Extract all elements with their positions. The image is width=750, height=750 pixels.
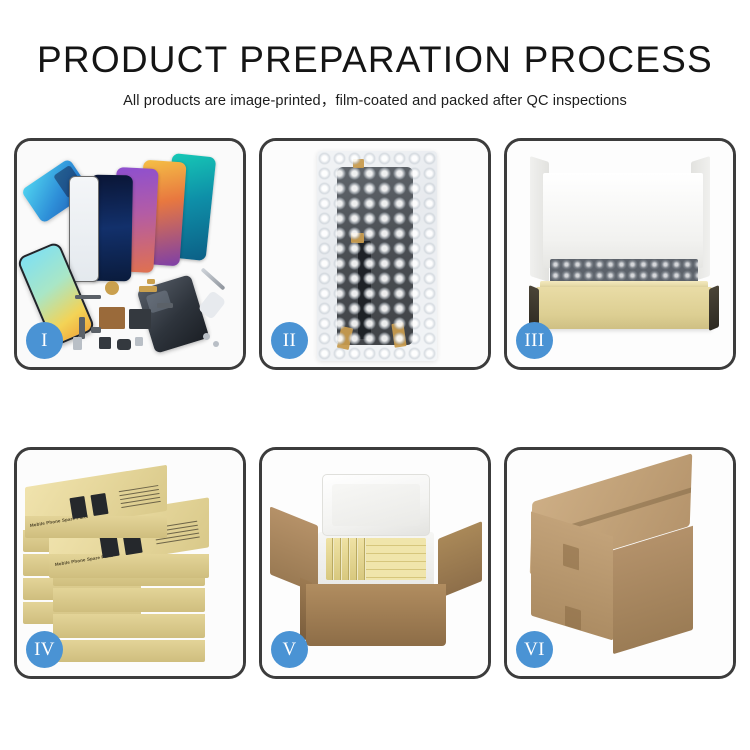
- steps-grid: I II: [14, 138, 736, 679]
- step-panel-6[interactable]: VI: [504, 447, 736, 679]
- part-icon: [117, 339, 131, 350]
- header: PRODUCT PREPARATION PROCESS All products…: [0, 0, 750, 110]
- step-badge-3: III: [516, 322, 553, 359]
- carton-front-icon: [306, 584, 446, 646]
- step-badge-1: I: [26, 322, 63, 359]
- process-infographic: PRODUCT PREPARATION PROCESS All products…: [0, 0, 750, 750]
- part-icon: [213, 341, 219, 347]
- part-icon: [91, 327, 101, 333]
- step-badge-4: IV: [26, 631, 63, 668]
- part-icon: [79, 317, 85, 339]
- carton-flap-left-icon: [270, 506, 318, 593]
- step-badge-5: V: [271, 631, 308, 668]
- part-icon: [147, 279, 155, 284]
- screwdriver-icon: [201, 267, 226, 290]
- part-icon: [135, 337, 143, 346]
- step-panel-1[interactable]: I: [14, 138, 246, 370]
- packed-boxes-icon: [326, 538, 426, 580]
- step-badge-6: VI: [516, 631, 553, 668]
- part-icon: [73, 337, 82, 350]
- part-icon: [99, 307, 125, 329]
- part-icon: [99, 337, 111, 349]
- foam-sheet-icon: [543, 173, 703, 268]
- step-panel-2[interactable]: II: [259, 138, 491, 370]
- page-subtitle: All products are image-printed，film-coat…: [0, 89, 750, 110]
- tape-patch-icon: [563, 544, 579, 571]
- step-badge-2: II: [271, 322, 308, 359]
- part-icon: [105, 281, 119, 295]
- foam-lid-icon: [322, 474, 430, 536]
- part-icon: [139, 286, 157, 292]
- page-title: PRODUCT PREPARATION PROCESS: [0, 40, 750, 80]
- part-icon: [129, 309, 151, 329]
- step-panel-3[interactable]: III: [504, 138, 736, 370]
- label-thumb-icon: [69, 496, 87, 519]
- screen-glass-icon: [69, 176, 99, 282]
- part-icon: [203, 333, 210, 340]
- step-panel-4[interactable]: Mobile Phone Spare Parts Mobile Phone Sp…: [14, 447, 246, 679]
- part-icon: [157, 303, 173, 308]
- step-panel-5[interactable]: V: [259, 447, 491, 679]
- kraft-box-icon: [536, 287, 712, 329]
- label-thumb-icon: [90, 493, 108, 516]
- bubble-texture: [317, 151, 437, 361]
- bubble-wrap-bag-icon: [317, 151, 437, 361]
- part-icon: [75, 295, 101, 299]
